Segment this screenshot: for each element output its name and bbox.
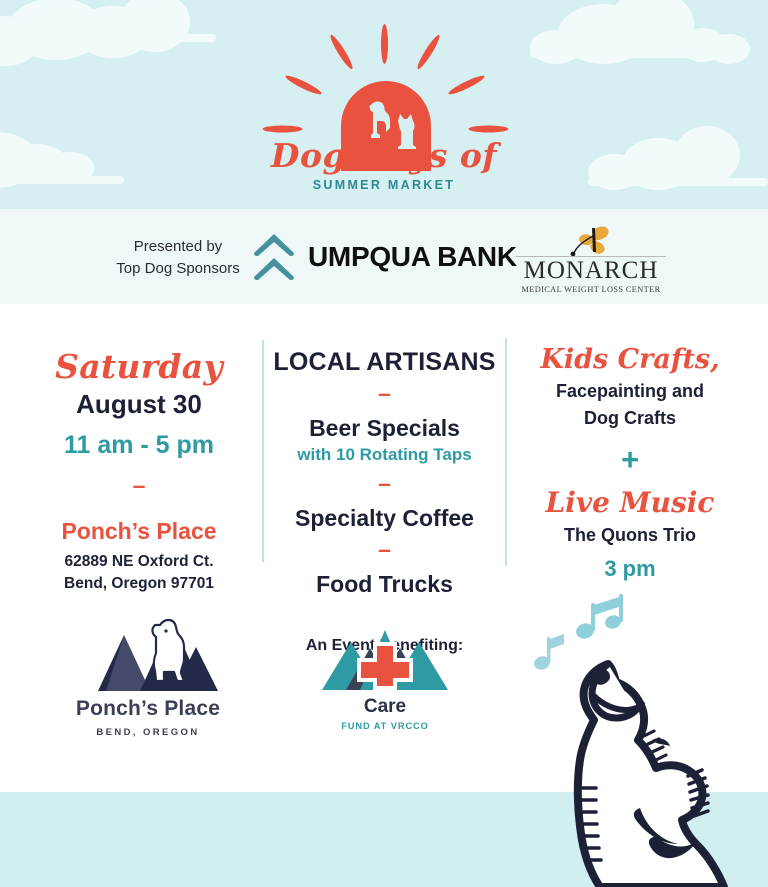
presented-by-line2: Top Dog Sponsors: [78, 258, 278, 280]
event-venue: Ponch’s Place: [24, 517, 254, 545]
live-music-act: The Quons Trio: [515, 522, 745, 548]
monarch-butterfly-icon: [516, 226, 666, 256]
column-divider-right: [505, 338, 507, 566]
presented-by-line1: Presented by: [78, 236, 278, 258]
mountains-with-red-cross-icon: [320, 624, 450, 690]
event-date: August 30: [24, 388, 254, 420]
column-divider-left: [262, 340, 264, 562]
kids-crafts-sub-line1: Facepainting and: [515, 379, 745, 403]
umpqua-double-chevron-icon: [253, 233, 295, 281]
logo-subtitle: SUMMER MARKET: [0, 178, 768, 192]
live-music-heading: Live Music: [515, 486, 745, 520]
mid-separator-dash-1: –: [272, 383, 497, 403]
offering-beer-specials: Beer Specials: [272, 413, 497, 443]
offering-beer-specials-sub: with 10 Rotating Taps: [272, 443, 497, 467]
offering-specialty-coffee: Specialty Coffee: [272, 503, 497, 533]
care-fund-subtitle: FUND AT VRCCO: [320, 721, 450, 731]
mid-separator-dash-3: –: [272, 539, 497, 559]
monarch-name: MONARCH: [516, 256, 666, 284]
venue-address-line2: Bend, Oregon 97701: [24, 573, 254, 595]
sun-icon: [282, 24, 487, 134]
care-fund-logo: Care FUND AT VRCCO: [320, 624, 450, 731]
umpqua-bank-logo: UMPQUA BANK: [253, 233, 517, 281]
venue-address-line1: 62889 NE Oxford Ct.: [24, 551, 254, 573]
ponchs-place-name: Ponch’s Place: [62, 697, 234, 721]
event-day: Saturday: [24, 348, 254, 386]
offering-food-trucks: Food Trucks: [272, 569, 497, 599]
mountains-with-dog-icon: [62, 613, 234, 691]
umpqua-bank-name: UMPQUA BANK: [308, 241, 517, 273]
monarch-logo: MONARCH MEDICAL WEIGHT LOSS CENTER: [516, 226, 666, 294]
howling-dog-illustration: [548, 640, 768, 887]
presented-by-text: Presented by Top Dog Sponsors: [78, 236, 278, 280]
ponchs-place-location: BEND, OREGON: [62, 727, 234, 738]
kids-crafts-sub-line2: Dog Crafts: [515, 406, 745, 430]
plus-separator: +: [515, 444, 745, 476]
offerings-heading: LOCAL ARTISANS: [272, 348, 497, 377]
column-when-where: Saturday August 30 11 am - 5 pm – Ponch’…: [24, 304, 254, 595]
event-time: 11 am - 5 pm: [24, 429, 254, 461]
left-separator-dash: –: [24, 475, 254, 495]
poster: Dog Days of SUMMER MARKET Presented by T…: [0, 0, 768, 887]
care-fund-name: Care: [320, 696, 450, 718]
mid-separator-dash-2: –: [272, 473, 497, 493]
logo-title: Dog Days of: [0, 136, 768, 175]
ponchs-place-logo: Ponch’s Place BEND, OREGON: [62, 613, 234, 738]
event-logo: Dog Days of SUMMER MARKET: [0, 0, 768, 209]
column-activities: Kids Crafts, Facepainting and Dog Crafts…: [515, 304, 745, 584]
live-music-time: 3 pm: [515, 554, 745, 584]
monarch-tagline: MEDICAL WEIGHT LOSS CENTER: [516, 285, 666, 294]
kids-crafts-heading: Kids Crafts,: [515, 344, 745, 376]
column-offerings: LOCAL ARTISANS – Beer Specials with 10 R…: [272, 304, 497, 655]
